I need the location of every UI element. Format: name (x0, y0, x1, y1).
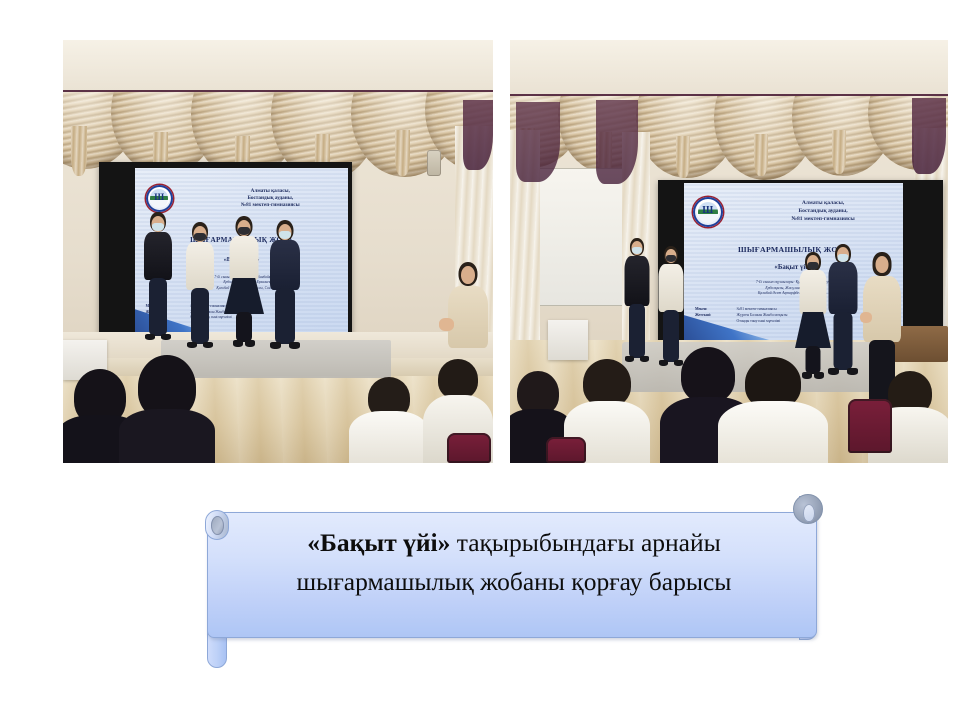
right-photo-scene: Ш Алматы қаласы, Бостандық ауданы, №81 м… (510, 40, 948, 463)
caption-line-1-rest: тақырыбындағы арнайы (450, 528, 720, 557)
left-photo[interactable]: Ш Алматы қаласы, Бостандық ауданы, №81 м… (63, 40, 493, 463)
caption-text: «Бақыт үйі» тақырыбындағы арнайы шығарма… (231, 524, 797, 602)
right-photo[interactable]: Ш Алматы қаласы, Бостандық ауданы, №81 м… (510, 40, 948, 463)
presenter-1 (141, 212, 175, 344)
caption-line-2: шығармашылық жобаны қорғау барысы (231, 563, 797, 602)
slide-meta-label-mentor: Жетекші: (695, 313, 712, 319)
caption-line-1: «Бақыт үйі» тақырыбындағы арнайы (231, 524, 797, 563)
slide-meta-value-subject: Отанды тану пәні мұғалімі (737, 319, 788, 325)
slide-header: Алматы қаласы, Бостандық ауданы, №81 мек… (750, 200, 897, 223)
hall-ceiling (510, 40, 948, 98)
teacher-hand (860, 312, 872, 323)
audience-member-4 (718, 357, 828, 463)
left-photo-scene: Ш Алматы қаласы, Бостандық ауданы, №81 м… (63, 40, 493, 463)
scroll-curl-left-icon (205, 510, 229, 540)
scroll-curl-right-icon (793, 494, 823, 524)
teacher-hand (439, 318, 454, 331)
hall-window (530, 168, 630, 306)
school-emblem-icon: Ш (146, 185, 173, 212)
slide-header: Алматы қаласы, Бостандық ауданы, №81 мек… (199, 188, 342, 209)
slide-header-line-3: №81 мектеп-гимназиясы (750, 216, 897, 224)
slide-meta-values: №81 мектеп-гимназиясы Жүрген Балжан Жанб… (737, 307, 788, 325)
caption-scroll-banner: «Бақыт үйі» тақырыбындағы арнайы шығарма… (183, 494, 833, 669)
hall-ceiling (63, 40, 493, 96)
wall-speaker (427, 150, 441, 176)
slide-meta-labels: Мекен: Жетекші: (695, 307, 712, 319)
audience-member-2 (119, 355, 215, 463)
slide-header-line-1: Алматы қаласы, (750, 200, 897, 208)
side-curtain-purple-left (516, 102, 560, 182)
presenter-3 (225, 216, 263, 352)
slide-header-line-2: Бостандық ауданы, (750, 208, 897, 216)
slide-header-line-3: №81 мектеп-гимназиясы (199, 202, 342, 209)
caption-bold-title: «Бақыт үйі» (307, 528, 450, 557)
audience-member-3 (349, 377, 429, 463)
audience-chair-1 (848, 399, 892, 453)
presenter-2 (183, 222, 217, 350)
audience-chair-2 (546, 437, 586, 463)
slide-header-line-2: Бостандық ауданы, (199, 195, 342, 202)
side-curtain-purple (463, 100, 493, 170)
presentation-slide: Ш Алматы қаласы, Бостандық ауданы, №81 м… (0, 0, 960, 720)
presenter-1 (622, 238, 652, 364)
slide-meta-value-mentor: Жүрген Балжан Жанболатқызы (737, 313, 788, 319)
school-emblem-icon: Ш (693, 197, 723, 227)
side-curtain-purple-mid (596, 100, 638, 184)
side-curtain-purple-right (912, 98, 946, 174)
audience-chair (447, 433, 491, 463)
presenter-4 (267, 220, 303, 354)
slide-header-line-1: Алматы қаласы, (199, 188, 342, 195)
presenter-4 (826, 244, 860, 380)
podium-block (548, 320, 588, 360)
